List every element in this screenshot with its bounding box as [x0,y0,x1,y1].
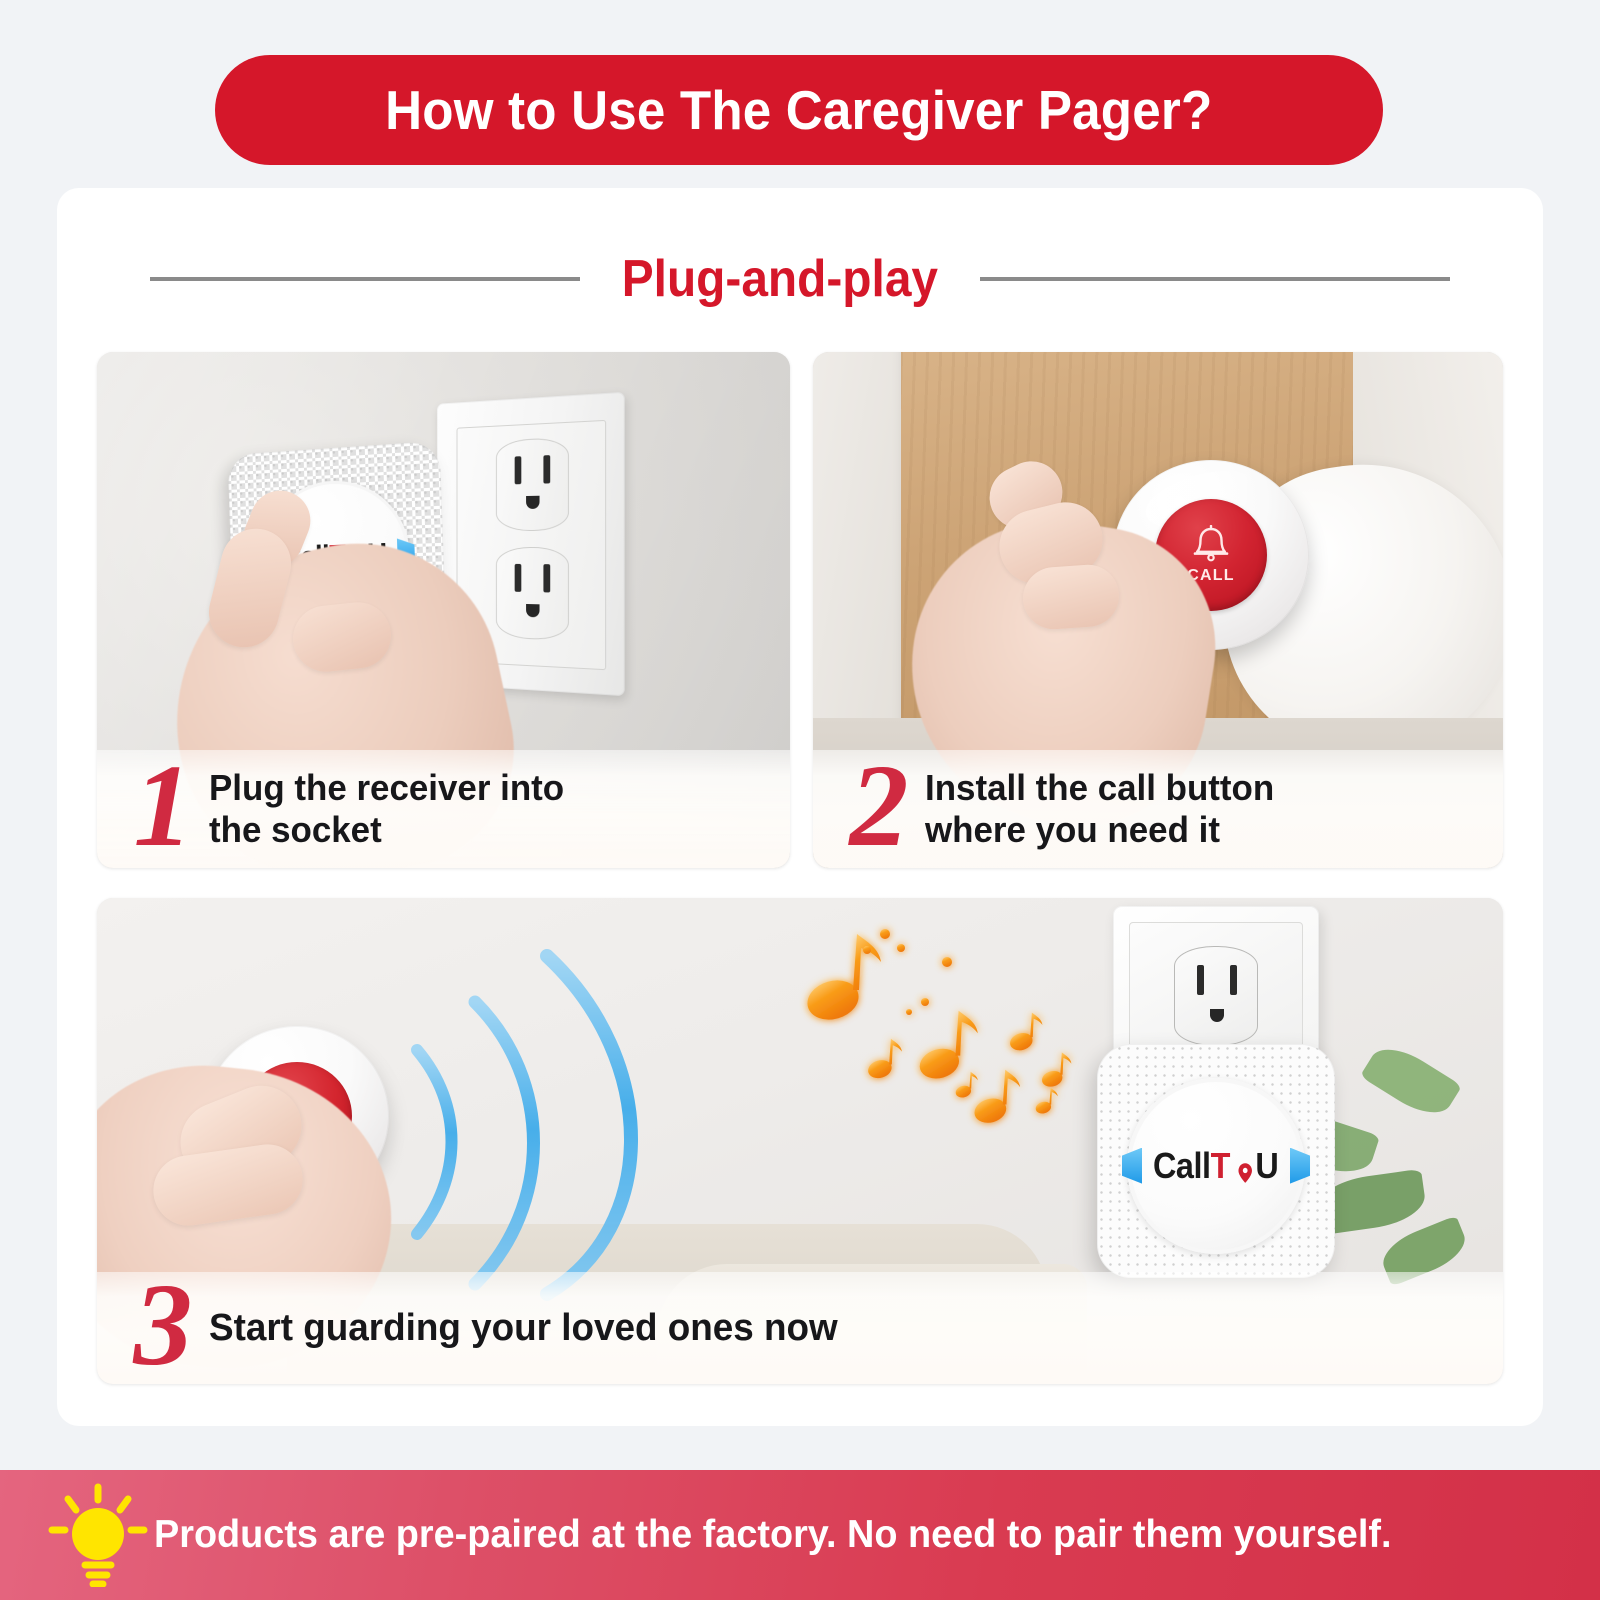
step-label-1: Plug the receiver into the socket [209,767,773,851]
outlet-receptacle [1174,946,1258,1046]
calltou-logo: CallT U [1153,1145,1278,1187]
section-title: Plug-and-play [622,249,938,309]
divider-left [150,277,580,281]
outlet-ground-pin [526,496,539,509]
step-label-2: Install the call button where you need i… [925,767,1486,851]
footer-banner-text: Products are pre-paired at the factory. … [154,1513,1391,1557]
bell-icon [1188,525,1234,565]
outlet-slot [1230,965,1237,995]
divider-right [980,277,1450,281]
footer-banner: Products are pre-paired at the factory. … [0,1470,1600,1600]
signal-waves [397,928,817,1308]
step-label-3: Start guarding your loved ones now [209,1306,1464,1350]
step-panel-3: CallT U 3 Start guardin [97,898,1503,1384]
outlet-slot [1197,965,1204,995]
outlet-ground-pin [1210,1009,1224,1022]
step-panel-1: CallT U [97,352,790,868]
outlet-receptacle-bottom [496,547,569,641]
location-pin-icon [1239,1163,1253,1183]
pager-receiver-device: CallT U [1097,1044,1335,1278]
lightbulb-icon-wrap [46,1483,150,1587]
page-title: How to Use The Caregiver Pager? [385,78,1212,142]
outlet-ground-pin [526,604,539,617]
outlet-slot [543,455,550,483]
outlet-slot [543,564,550,592]
step-3-caption: 3 Start guarding your loved ones now [97,1272,1503,1384]
receiver-front-face: CallT U [1127,1078,1305,1254]
lightbulb-icon [46,1483,150,1587]
section-heading: Plug-and-play [97,243,1503,315]
thumb [1021,563,1121,632]
step-1-caption: 1 Plug the receiver into the socket [97,750,790,868]
step-panel-2: CALL 2 Install the call button where you… [813,352,1503,868]
outlet-receptacle-top [496,437,569,531]
content-card: Plug-and-play [57,188,1543,1426]
step-number-2: 2 [833,756,925,855]
outlet-slot [515,456,522,484]
header-banner: How to Use The Caregiver Pager? [215,55,1383,165]
outlet-slot [515,564,522,592]
plant-leaf [1360,1037,1462,1125]
brand-logo-wrap: CallT U [1146,1145,1285,1187]
step-number-1: 1 [117,756,209,855]
step-2-caption: 2 Install the call button where you need… [813,750,1503,868]
step-number-3: 3 [117,1275,209,1374]
music-notes [797,918,1127,1208]
steps-grid: CallT U [97,352,1503,1384]
